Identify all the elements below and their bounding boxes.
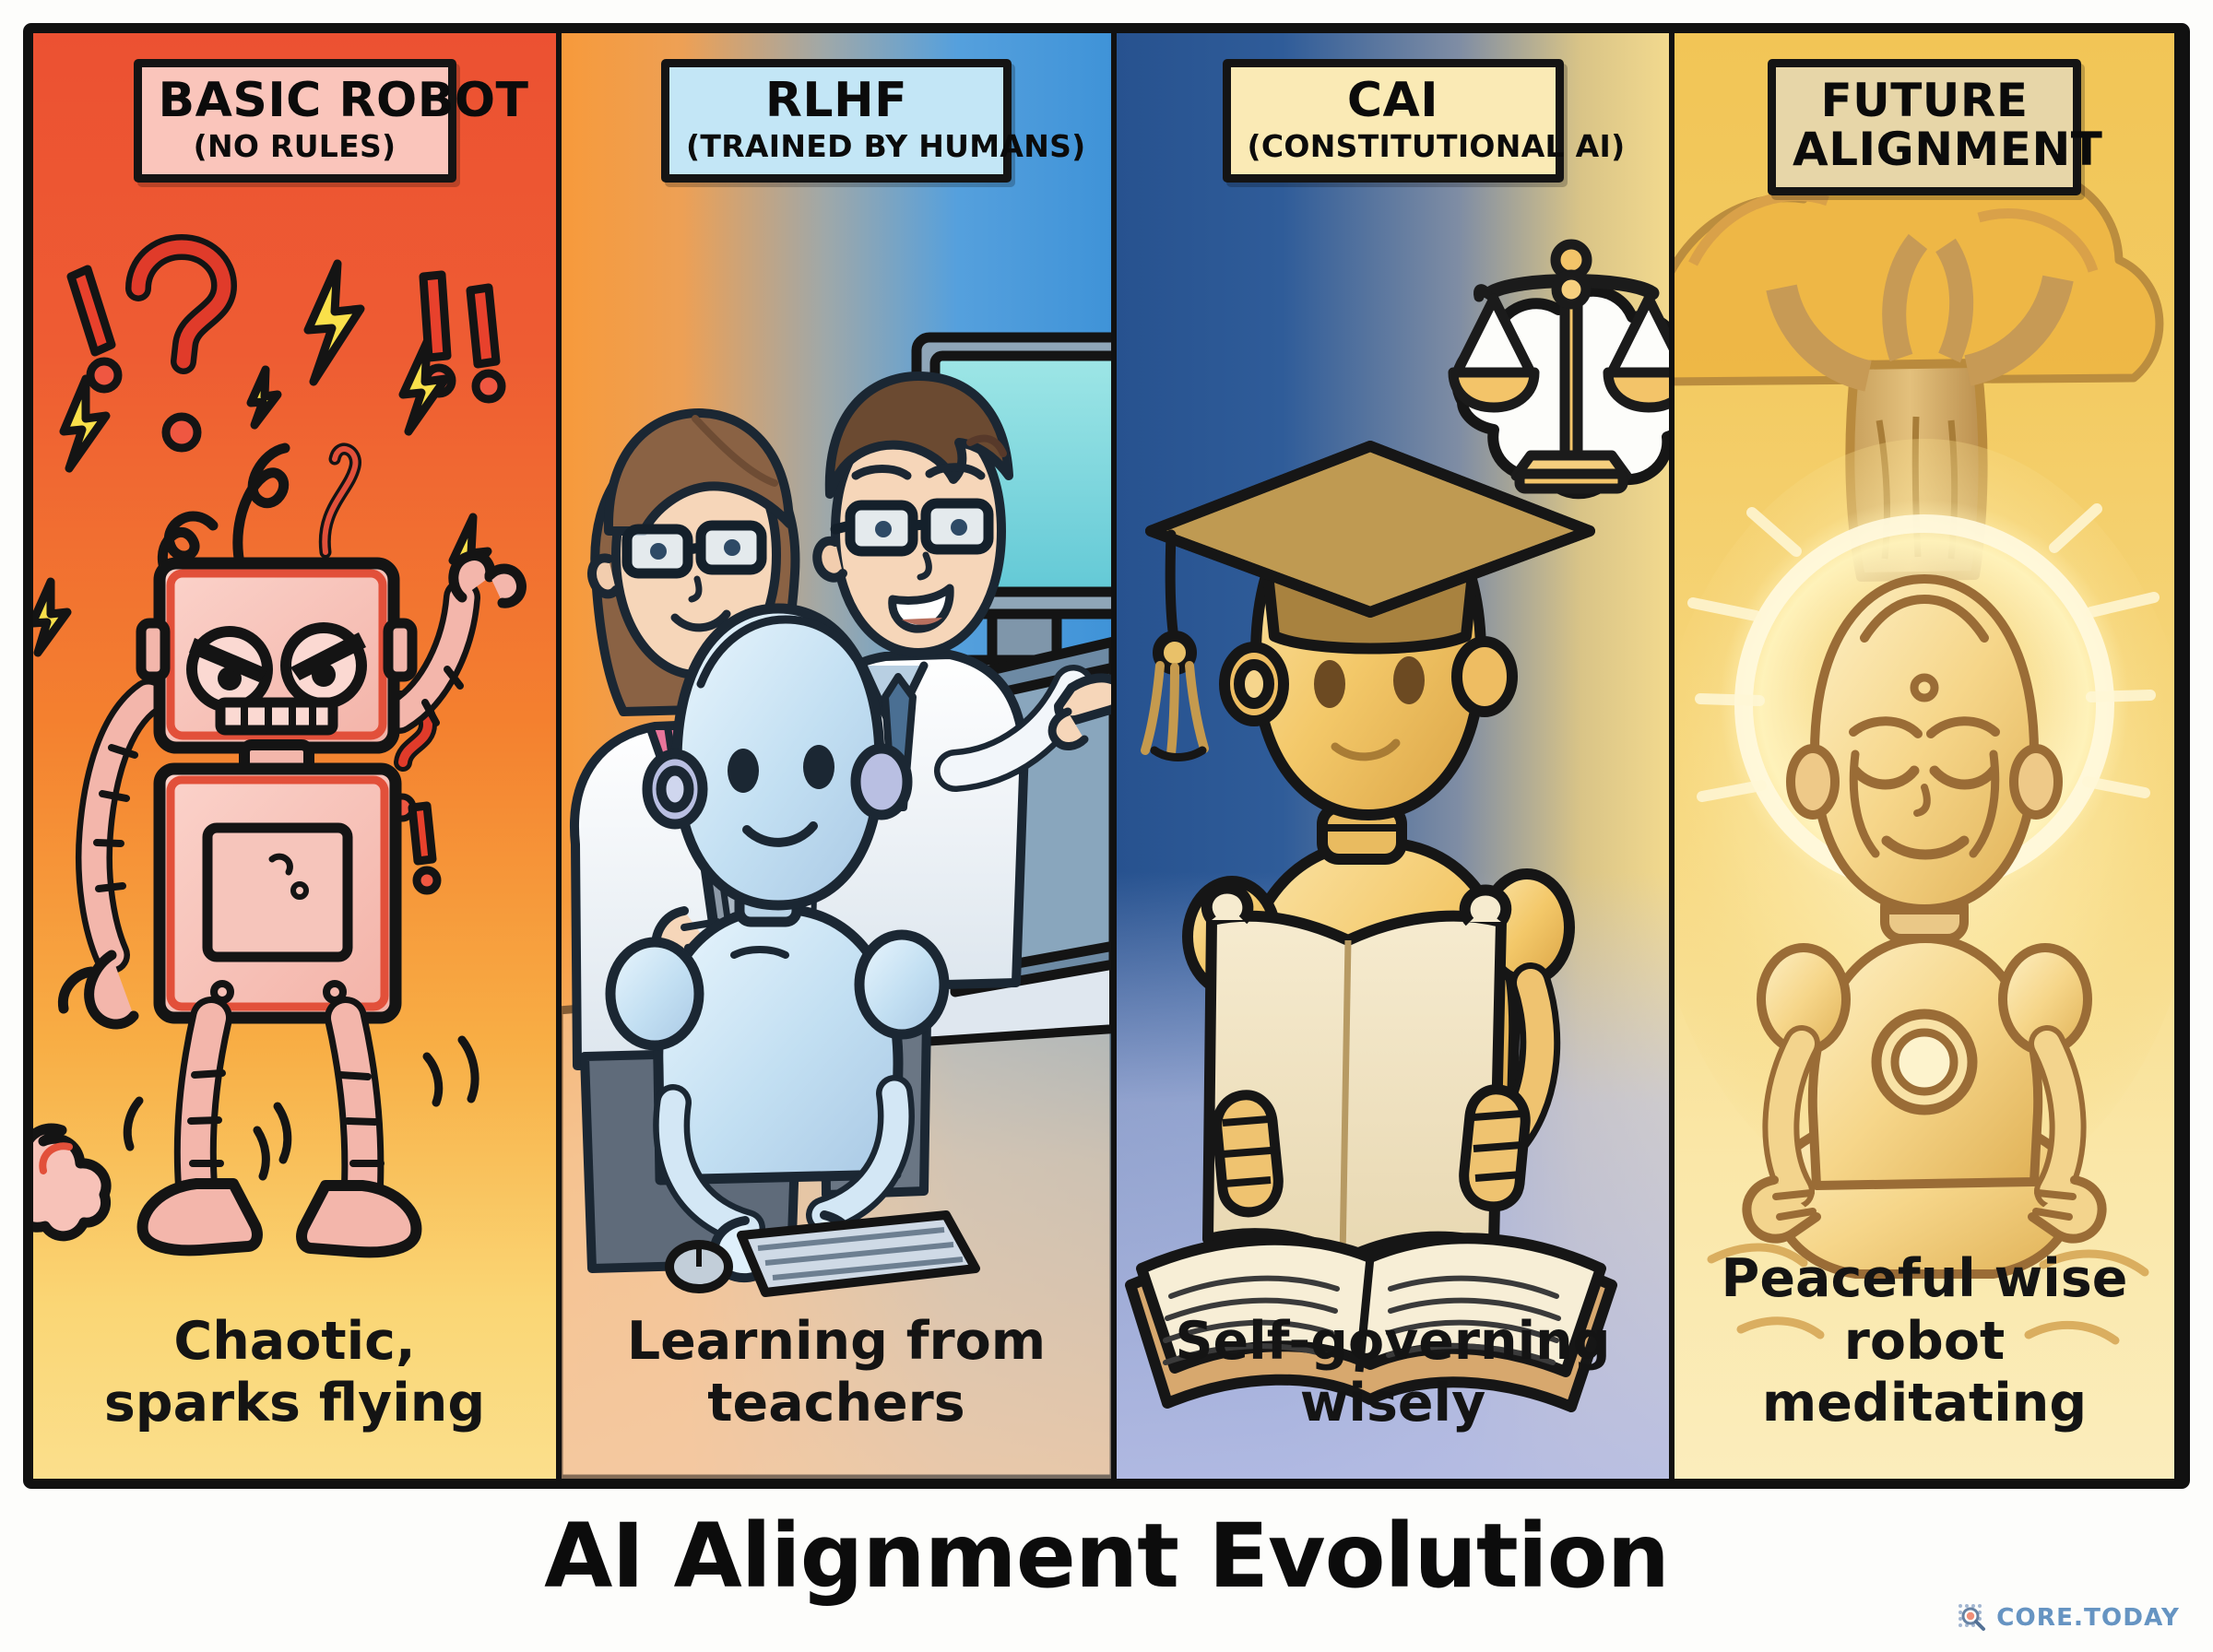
- panel-cai: CAI (CONSTITUTIONAL AI) Self-governing w…: [1117, 33, 1675, 1479]
- caption-line-2: wisely: [1130, 1373, 1656, 1434]
- panel-future-alignment: FUTURE ALIGNMENT Peaceful wise robot med…: [1675, 33, 2174, 1479]
- panel-heading: RLHF: [686, 77, 987, 124]
- panel-caption-future-alignment: Peaceful wise robot meditating: [1675, 1248, 2174, 1434]
- watermark-label: CORE.TODAY: [1996, 1604, 2180, 1632]
- panel-heading-plaque-basic-robot: BASIC ROBOT (NO RULES): [134, 59, 456, 183]
- cai-illustration: [1117, 33, 1669, 1479]
- robot-right-arm: [399, 556, 521, 723]
- question-mark-icon: [138, 247, 224, 448]
- caption-line-2: teachers: [574, 1373, 1098, 1434]
- caption-line-1: Self-governing: [1130, 1311, 1656, 1373]
- panel-heading: FUTURE ALIGNMENT: [1793, 77, 2056, 174]
- robot-head: [141, 563, 412, 748]
- panel-subheading: (TRAINED BY HUMANS): [686, 131, 987, 161]
- panel-caption-rlhf: Learning from teachers: [562, 1311, 1111, 1435]
- exclamation-mark-icon: [71, 269, 118, 389]
- panel-basic-robot: BASIC ROBOT (NO RULES) Chaotic, sparks f…: [33, 33, 562, 1479]
- magnifier-dotgrid-icon: [1957, 1602, 1988, 1634]
- panel-caption-basic-robot: Chaotic, sparks flying: [33, 1311, 556, 1435]
- robot-left-arm: [63, 697, 148, 1024]
- page-title: AI Alignment Evolution: [0, 1504, 2213, 1608]
- caption-line-1: Peaceful wise: [1687, 1248, 2161, 1310]
- panel-rlhf: RLHF (TRAINED BY HUMANS) Learning from t…: [562, 33, 1117, 1479]
- panel-subheading: (NO RULES): [159, 131, 432, 161]
- robot-torso: [160, 769, 396, 1018]
- panel-heading-plaque-cai: CAI (CONSTITUTIONAL AI): [1223, 59, 1564, 183]
- caption-line-2: robot meditating: [1687, 1311, 2161, 1435]
- watermark: CORE.TODAY: [1957, 1602, 2180, 1634]
- angry-robot: [33, 556, 521, 1253]
- robot-mouth: [220, 702, 333, 730]
- panel-heading-plaque-rlhf: RLHF (TRAINED BY HUMANS): [661, 59, 1012, 183]
- rlhf-illustration: [562, 33, 1111, 1479]
- caption-line-1: Learning from: [574, 1311, 1098, 1373]
- caption-line-1: Chaotic,: [46, 1311, 543, 1373]
- robot-legs: [143, 1018, 417, 1252]
- panel-subheading: (CONSTITUTIONAL AI): [1248, 131, 1539, 161]
- smoke-puff: [33, 1128, 106, 1236]
- panel-caption-cai: Self-governing wisely: [1117, 1311, 1669, 1435]
- caption-line-2: sparks flying: [46, 1373, 543, 1434]
- basic-robot-illustration: [33, 33, 556, 1479]
- computer-mouse: [669, 1245, 728, 1289]
- comic-strip-frame: BASIC ROBOT (NO RULES) Chaotic, sparks f…: [23, 23, 2190, 1489]
- infographic-root: BASIC ROBOT (NO RULES) Chaotic, sparks f…: [0, 0, 2213, 1652]
- panel-heading-plaque-future-alignment: FUTURE ALIGNMENT: [1768, 59, 2081, 195]
- panel-heading: BASIC ROBOT: [159, 77, 432, 124]
- panel-heading: CAI: [1248, 77, 1539, 124]
